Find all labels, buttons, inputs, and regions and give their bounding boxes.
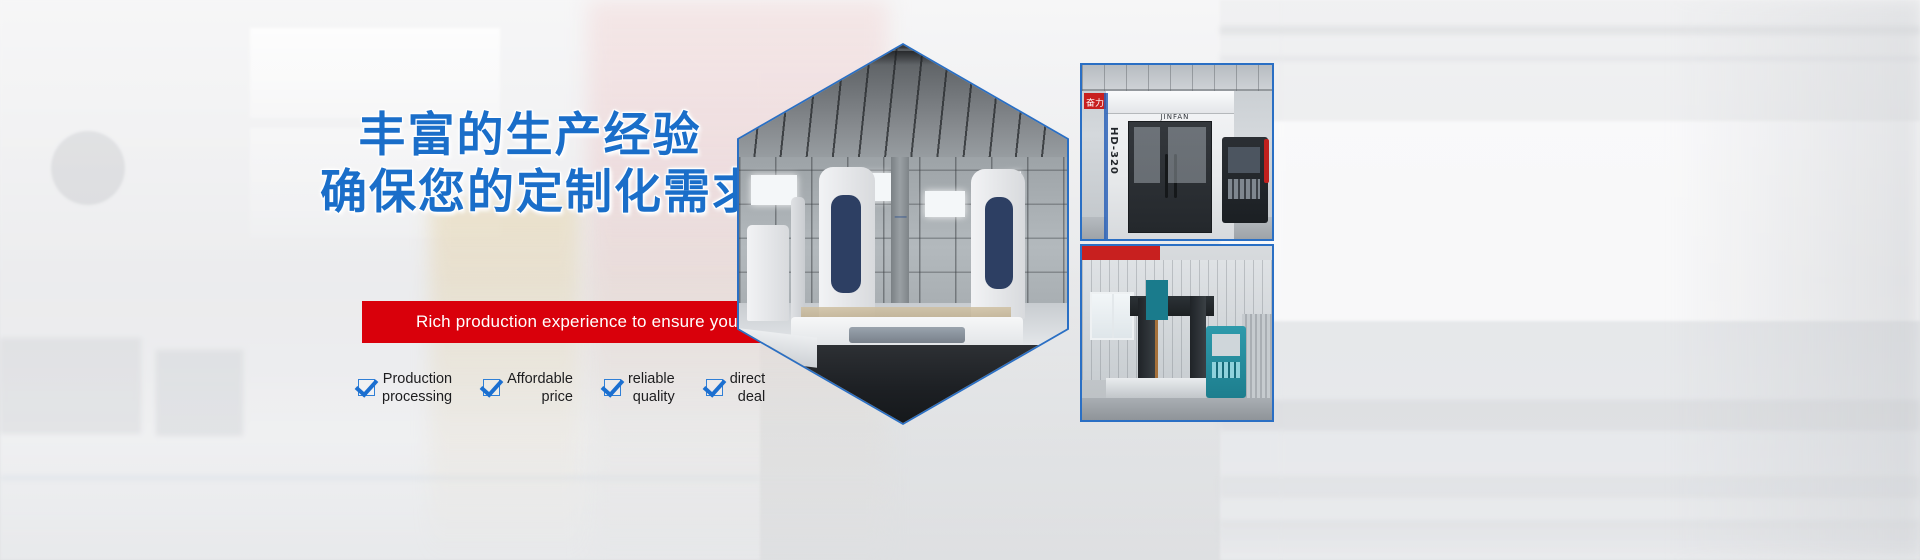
hero-banner: 丰富的生产经验 确保您的定制化需求 Rich production experi… [0,0,1920,560]
hexagon-photo-frame: 定 一 切 [737,43,1069,425]
thumb-floor [1082,398,1272,420]
feature-label-line-2: quality [633,389,675,405]
headline-line-2: 确保您的定制化需求 [320,165,740,222]
feature-label-line-1: Affordable [507,371,573,387]
feature-label-line-1: reliable [628,371,675,387]
gantry-ram-head [1146,280,1168,320]
feature-label: Affordable price [507,370,573,406]
check-icon [604,379,621,396]
machine-cabinet [1242,314,1272,402]
feature-label: Production processing [382,370,452,406]
thumbnail-gantry-machine [1080,244,1274,422]
thumb-window [1090,292,1134,340]
feature-label: reliable quality [628,370,675,406]
hexagon-photo-workshop: 定 一 切 [739,45,1067,423]
page-title: 丰富的生产经验 确保您的定制化需求 [320,108,740,222]
thumb-roof [1082,65,1272,91]
machine-control-screen [1228,147,1260,173]
machine-column [747,225,789,321]
feature-label-line-2: processing [382,389,452,405]
feature-label-line-1: Production [383,371,452,387]
check-icon [483,379,500,396]
machine-control-keypad [1228,179,1260,199]
feature-item-affordable-price: Affordable price [483,370,573,406]
gantry-tool [1155,320,1158,382]
workshop-pillar [891,157,909,313]
workshop-roof [739,45,1067,163]
gantry-column-right [1190,296,1206,384]
thumbnail-machining-center: 奋力 JINFAN HD-320 [1080,63,1274,241]
machine-brand-label: JINFAN [1140,113,1210,121]
machine-red-accent [1264,139,1269,183]
feature-item-production-processing: Production processing [358,370,452,406]
machine-model-label: HD-320 [1108,127,1119,175]
check-icon [706,379,723,396]
machine-column [791,197,805,321]
headline-line-1: 丰富的生产经验 [359,110,702,162]
machine-navy-panel [985,197,1013,289]
check-icon [358,379,375,396]
machine-navy-panel [831,195,861,293]
thumb-wall-banner-text: 奋力 [1084,99,1104,109]
thumb-wall-banner [1082,246,1160,260]
machine-door-glass [1134,127,1206,183]
feature-label-line-2: price [542,389,573,405]
cnc-control-keypad [1212,362,1240,378]
machine-enclosure-top [1106,91,1234,113]
feature-item-reliable-quality: reliable quality [604,370,675,406]
feature-list: Production processing Affordable price r… [358,370,765,406]
cnc-control-screen [1212,334,1240,356]
machine-viewport [849,327,965,343]
